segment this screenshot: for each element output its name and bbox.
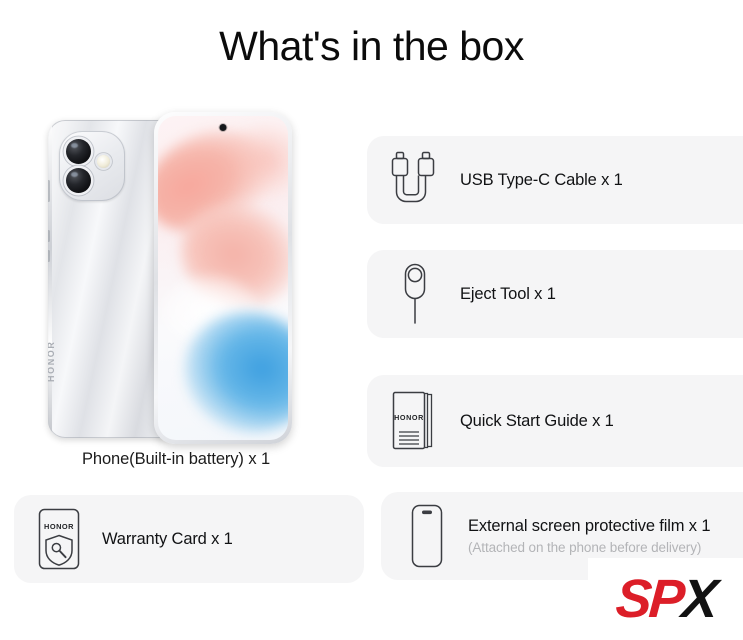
svg-text:HONOR: HONOR [394,413,424,422]
spx-watermark: SPX [588,558,743,640]
phone-caption: Phone(Built-in battery) x 1 [0,450,352,469]
lens-glint [71,143,78,148]
item-labels: Quick Start Guide x 1 [460,412,614,431]
phone-screen [158,116,288,440]
watermark-x-text: X [680,569,717,629]
item-sublabel: (Attached on the phone before delivery) [468,540,710,555]
camera-lens-primary-icon [66,139,91,164]
phone-hero-image: HONOR [40,112,300,444]
item-card-eject-tool[interactable]: Eject Tool x 1 [367,250,743,338]
power-button [48,180,50,202]
camera-lens-secondary-icon [66,168,91,193]
item-card-warranty-card[interactable]: HONOR Warranty Card x 1 [14,495,364,583]
page-title: What's in the box [0,22,743,71]
watermark-text: SPX [614,572,717,626]
warranty-shield-card-icon: HONOR [28,506,90,572]
item-card-usb-cable[interactable]: USB Type-C Cable x 1 [367,136,743,224]
front-camera-icon [220,124,227,131]
eject-pin-tool-icon [384,262,446,326]
item-labels: USB Type-C Cable x 1 [460,171,623,190]
camera-island [59,131,125,201]
watermark-sp-text: SP [614,569,684,629]
item-label: USB Type-C Cable x 1 [460,171,623,190]
whats-in-the-box-page: What's in the box HONOR [0,0,743,640]
item-labels: External screen protective film x 1 (Att… [468,517,710,555]
phone-left-edge-highlight [48,120,52,438]
item-label: Quick Start Guide x 1 [460,412,614,431]
item-label: Warranty Card x 1 [102,530,233,549]
phone-screen-film-icon [398,502,456,570]
svg-text:HONOR: HONOR [44,522,74,531]
item-label: External screen protective film x 1 [468,517,710,536]
booklet-icon: HONOR [384,389,446,453]
usb-type-c-cable-icon [384,150,446,210]
item-labels: Warranty Card x 1 [102,530,233,549]
item-labels: Eject Tool x 1 [460,285,556,304]
camera-flash-icon [97,155,110,168]
item-card-quick-start-guide[interactable]: HONOR Quick Start Guide x 1 [367,375,743,467]
volume-down-button [48,250,50,262]
honor-brand-logo: HONOR [48,341,56,383]
lens-glint [71,172,78,177]
phone-front-view [154,112,292,444]
item-label: Eject Tool x 1 [460,285,556,304]
volume-up-button [48,230,50,242]
